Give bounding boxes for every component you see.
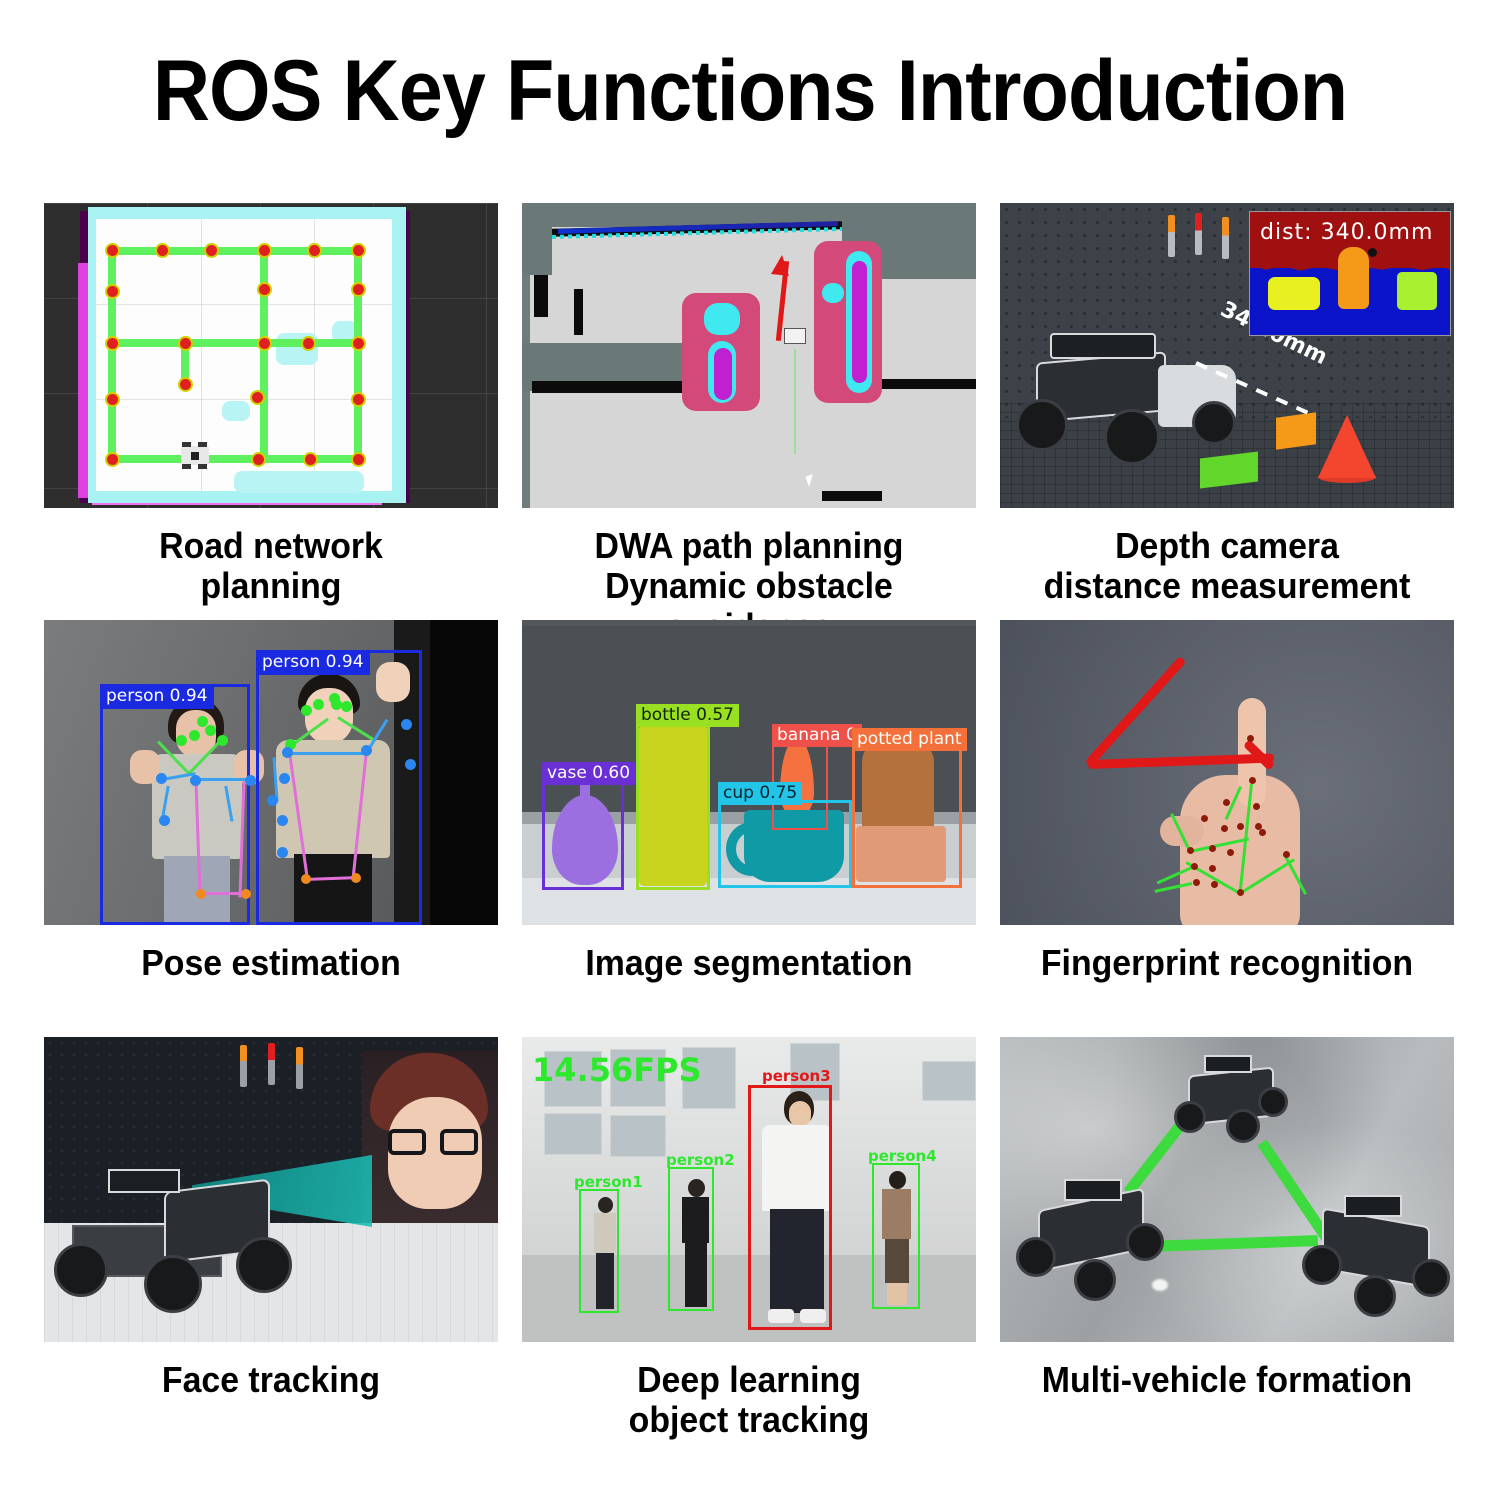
network-node	[105, 392, 120, 407]
segmentation-label-banana: banana 0	[772, 724, 862, 747]
network-node	[178, 377, 193, 392]
caption-line: Pose estimation	[58, 943, 485, 983]
window	[922, 1061, 976, 1101]
keypoint	[301, 705, 312, 716]
screwdriver-icon	[268, 1043, 275, 1085]
caption-line: Road network	[58, 526, 485, 566]
caption-fingerprint-recognition: Fingerprint recognition	[1014, 925, 1441, 1037]
feature-card-fingerprint-recognition[interactable]: Fingerprint recognition	[1000, 620, 1454, 1037]
caption-line: object tracking	[536, 1400, 963, 1440]
keypoint	[405, 759, 416, 770]
robot-vehicle	[1016, 1173, 1166, 1313]
tracking-label: person1	[574, 1173, 643, 1191]
network-edge	[354, 247, 362, 463]
skeleton-bone	[199, 892, 247, 895]
feature-card-object-tracking[interactable]: 14.56FPS person1 person2	[522, 1037, 976, 1454]
caption-line: Depth camera	[1014, 526, 1441, 566]
network-node	[251, 452, 266, 467]
poster-root: ROS Key Functions Introduction	[0, 0, 1500, 1500]
screwdriver-icon	[1222, 217, 1229, 259]
keypoint	[267, 795, 278, 806]
robot-vehicle	[54, 1159, 294, 1327]
robot-top-module	[1344, 1195, 1402, 1217]
robot-vehicle	[1302, 1187, 1452, 1327]
hand-keypoint	[1211, 881, 1218, 888]
hand-keypoint	[1187, 847, 1194, 854]
keypoint	[241, 889, 251, 899]
fps-readout: 14.56FPS	[532, 1051, 702, 1089]
inflation-blob-inner	[704, 303, 740, 335]
thumbnail-dwa-path-planning[interactable]	[522, 203, 976, 508]
keypoint	[331, 699, 342, 710]
network-node	[257, 282, 272, 297]
page-title: ROS Key Functions Introduction	[60, 42, 1440, 141]
keypoint	[217, 735, 228, 746]
tracking-label: person3	[762, 1067, 831, 1085]
thumbnail-fingerprint-recognition[interactable]	[1000, 620, 1454, 925]
caption-line: Image segmentation	[536, 943, 963, 983]
hand-keypoint	[1227, 849, 1234, 856]
network-node	[250, 390, 265, 405]
network-node	[257, 243, 272, 258]
depth-distance-readout: dist: 340.0mm	[1260, 220, 1433, 245]
keypoint	[351, 873, 361, 883]
feature-card-multi-vehicle-formation[interactable]: Multi-vehicle formation	[1000, 1037, 1454, 1454]
caption-line: distance measurement	[1014, 566, 1441, 606]
network-node	[257, 336, 272, 351]
network-node	[351, 282, 366, 297]
hand-keypoint	[1259, 829, 1266, 836]
feature-card-depth-camera[interactable]: 340.0mm dist: 340.0mm Depth camera dista…	[1000, 203, 1454, 620]
tracking-box	[579, 1189, 619, 1313]
glasses-icon	[388, 1129, 480, 1155]
mecanum-wheel	[1412, 1259, 1450, 1297]
tracking-label: person4	[868, 1147, 937, 1165]
depth-blob-green	[1397, 272, 1437, 310]
mecanum-wheel	[1016, 399, 1068, 451]
detection-label: person 0.94	[100, 684, 214, 709]
mecanum-wheel	[236, 1237, 292, 1293]
network-node	[351, 452, 366, 467]
depth-blob-orange	[1338, 247, 1369, 309]
network-edge	[108, 247, 116, 463]
hand-keypoint	[1237, 889, 1244, 896]
segmentation-label-vase: vase 0.60	[542, 762, 635, 785]
robot-top-module	[1064, 1179, 1122, 1201]
feature-card-road-network-planning[interactable]: Road network planning	[44, 203, 498, 620]
costmap-unknown	[522, 203, 552, 275]
keypoint	[282, 747, 293, 758]
network-node	[351, 243, 366, 258]
feature-card-face-tracking[interactable]: Face tracking	[44, 1037, 498, 1454]
thumbnail-road-network-planning[interactable]	[44, 203, 498, 508]
screwdriver-icon	[296, 1047, 303, 1089]
screwdriver-icon	[1168, 215, 1175, 257]
thumbnail-multi-vehicle-formation[interactable]	[1000, 1037, 1454, 1342]
screwdriver-icon	[240, 1045, 247, 1087]
hand-keypoint	[1191, 863, 1198, 870]
segmentation-box-potted-plant	[852, 746, 962, 888]
caption-line: Deep learning	[536, 1360, 963, 1400]
feature-card-dwa-path-planning[interactable]: DWA path planning Dynamic obstacle avoid…	[522, 203, 976, 620]
keypoint	[279, 773, 290, 784]
caption-line: Face tracking	[58, 1360, 485, 1400]
network-node	[301, 336, 316, 351]
hand-keypoint	[1221, 825, 1228, 832]
map-scan-blob-d	[234, 471, 364, 493]
costmap-obstacle	[874, 379, 976, 389]
network-node	[307, 243, 322, 258]
network-edge	[112, 455, 359, 463]
keypoint	[301, 874, 311, 884]
keypoint	[401, 719, 412, 730]
mecanum-wheel	[1302, 1245, 1342, 1285]
keypoint	[197, 716, 208, 727]
robot-top-plate	[1050, 333, 1156, 359]
caption-line: planning	[58, 566, 485, 606]
tracked-face-photo	[362, 1051, 498, 1223]
caption-object-tracking: Deep learning object tracking	[536, 1342, 963, 1454]
feature-grid: Road network planning	[44, 203, 1456, 1454]
mecanum-wheel	[1016, 1237, 1056, 1277]
mecanum-wheel	[1074, 1259, 1116, 1301]
inflation-blob-mid	[852, 261, 867, 383]
keypoint	[205, 725, 216, 736]
network-edge	[260, 247, 268, 463]
hand-keypoint	[1201, 815, 1208, 822]
hand-keypoint	[1237, 823, 1244, 830]
window	[544, 1113, 602, 1155]
costmap-obstacle	[574, 289, 583, 335]
keypoint	[361, 745, 372, 756]
hand-keypoint	[1247, 735, 1254, 742]
caption-depth-camera: Depth camera distance measurement	[1014, 508, 1441, 620]
robot-marker-center	[191, 452, 199, 460]
segmentation-label-potted-plant: potted plant	[852, 728, 967, 751]
caption-image-segmentation: Image segmentation	[536, 925, 963, 1037]
network-node	[105, 452, 120, 467]
thumbnail-face-tracking[interactable]	[44, 1037, 498, 1342]
keypoint	[159, 815, 170, 826]
feature-card-pose-estimation[interactable]: person 0.94 person 0.94	[44, 620, 498, 1037]
hand-keypoint	[1283, 851, 1290, 858]
keypoint	[245, 775, 256, 786]
keypoint	[196, 889, 206, 899]
caption-road-network-planning: Road network planning	[58, 508, 485, 620]
costmap-obstacle	[822, 491, 882, 501]
hand-keypoint	[1209, 845, 1216, 852]
thumbnail-image-segmentation[interactable]: banana 0 potted plant bottle 0.57 vase 0…	[522, 620, 976, 925]
network-node	[105, 284, 120, 299]
robot-footprint	[784, 328, 806, 344]
glasses-lens	[388, 1129, 426, 1155]
tracking-box	[872, 1163, 920, 1309]
hand-keypoint	[1249, 777, 1256, 784]
keypoint	[341, 701, 352, 712]
caption-dwa-path-planning: DWA path planning Dynamic obstacle avoid…	[536, 508, 963, 620]
traffic-cone-object	[1318, 415, 1376, 478]
robot-vehicle	[1012, 321, 1242, 471]
thumbnail-depth-camera[interactable]: 340.0mm dist: 340.0mm	[1000, 203, 1454, 508]
keypoint	[313, 699, 324, 710]
network-node	[204, 243, 219, 258]
robot-top-module	[108, 1169, 180, 1193]
inflation-blob-mid	[714, 348, 732, 400]
segmentation-box-bottle	[636, 720, 710, 890]
network-edge	[112, 339, 359, 347]
window	[610, 1115, 666, 1157]
hand-keypoint	[1253, 803, 1260, 810]
orange-cube-object	[1276, 412, 1316, 450]
depth-map-inset: dist: 340.0mm	[1249, 211, 1451, 336]
detection-label: person 0.94	[256, 650, 370, 675]
segmentation-box-cup	[718, 800, 852, 888]
caption-line: DWA path planning	[536, 526, 963, 566]
mecanum-wheel	[1226, 1109, 1260, 1143]
keypoint	[189, 730, 200, 741]
caption-face-tracking: Face tracking	[58, 1342, 485, 1454]
keypoint	[190, 775, 201, 786]
robot-vehicle	[1172, 1051, 1292, 1147]
map-fine-grid	[96, 219, 392, 491]
depth-noise-dot	[1368, 248, 1377, 257]
skeleton-bone	[286, 752, 368, 755]
screwdriver-icon	[1195, 213, 1202, 255]
segmentation-box-vase	[542, 778, 624, 890]
network-node	[105, 243, 120, 258]
mecanum-wheel	[1126, 1223, 1164, 1261]
hand-keypoint	[1223, 799, 1230, 806]
segmentation-label-cup: cup 0.75	[718, 782, 802, 805]
keypoint	[176, 735, 187, 746]
segmentation-label-bottle: bottle 0.57	[636, 704, 739, 727]
network-node	[178, 336, 193, 351]
depth-blob-yellow	[1268, 277, 1320, 310]
tracking-box	[748, 1085, 832, 1330]
mecanum-wheel	[1174, 1101, 1206, 1133]
thumbnail-object-tracking[interactable]: 14.56FPS person1 person2	[522, 1037, 976, 1342]
keypoint	[277, 847, 288, 858]
caption-line: Fingerprint recognition	[1014, 943, 1441, 983]
caption-line: Multi-vehicle formation	[1014, 1360, 1441, 1400]
thumbnail-pose-estimation[interactable]: person 0.94 person 0.94	[44, 620, 498, 925]
feature-card-image-segmentation[interactable]: banana 0 potted plant bottle 0.57 vase 0…	[522, 620, 976, 1037]
mecanum-wheel	[1258, 1087, 1288, 1117]
caption-multi-vehicle-formation: Multi-vehicle formation	[1014, 1342, 1441, 1454]
network-node	[105, 336, 120, 351]
network-node	[155, 243, 170, 258]
mecanum-wheel	[54, 1243, 108, 1297]
caption-pose-estimation: Pose estimation	[58, 925, 485, 1037]
mecanum-wheel	[144, 1255, 202, 1313]
detection-box	[256, 650, 422, 925]
keypoint	[156, 773, 167, 784]
mecanum-wheel	[1104, 409, 1160, 465]
hand-keypoint	[1193, 879, 1200, 886]
tracking-box	[668, 1167, 714, 1311]
network-node	[351, 392, 366, 407]
hand-keypoint	[1209, 865, 1216, 872]
network-node	[303, 452, 318, 467]
costmap-obstacle	[534, 275, 548, 317]
network-node	[351, 336, 366, 351]
keypoint	[277, 815, 288, 826]
tracking-label: person2	[666, 1151, 735, 1169]
glasses-lens	[440, 1129, 478, 1155]
inflation-blob-inner	[822, 283, 844, 303]
robot-top-module	[1204, 1055, 1252, 1073]
wall-dark-edge	[430, 620, 498, 925]
mecanum-wheel	[1192, 401, 1236, 445]
map-scan-blob-c	[222, 401, 250, 421]
mecanum-wheel	[1354, 1275, 1396, 1317]
local-plan-trail	[794, 349, 796, 454]
